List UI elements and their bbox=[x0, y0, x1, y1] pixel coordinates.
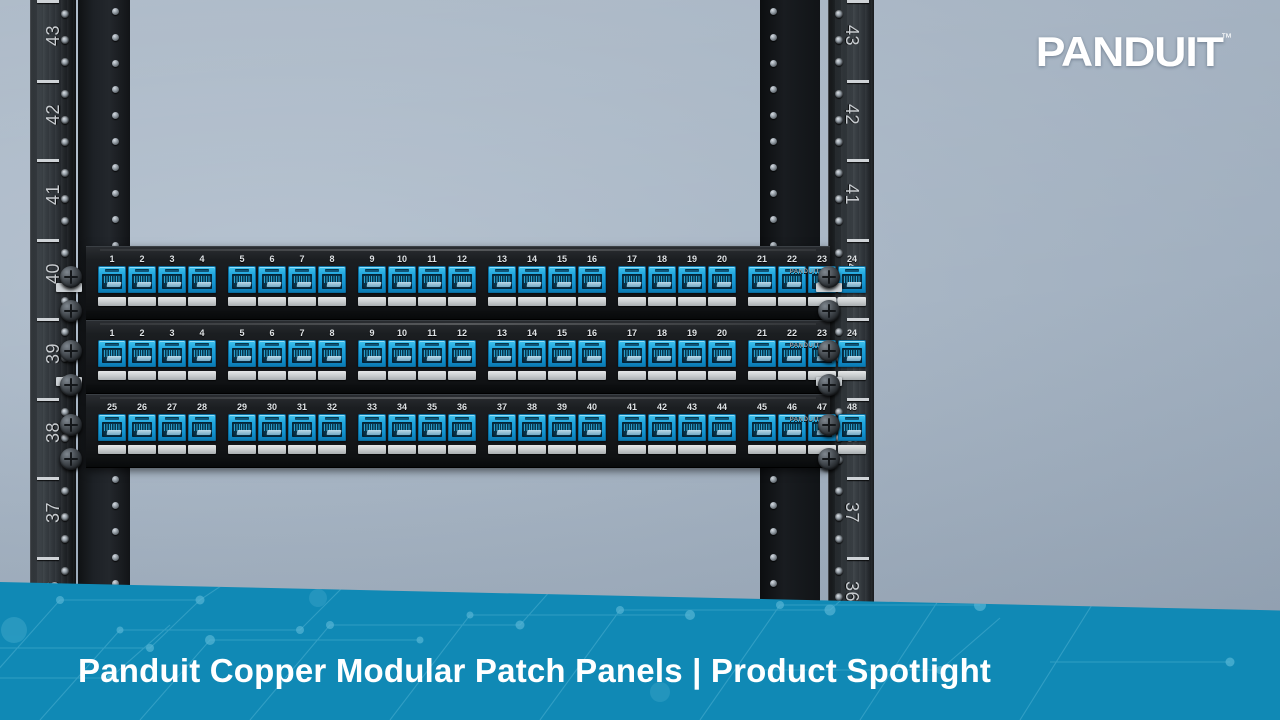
rj45-jack-icon[interactable] bbox=[838, 266, 866, 293]
rj45-jack-icon[interactable] bbox=[418, 266, 446, 293]
patch-port[interactable]: 8 bbox=[318, 253, 346, 306]
rj45-jack-icon[interactable] bbox=[388, 266, 416, 293]
port-label-strip[interactable] bbox=[838, 297, 866, 306]
rack-unit-marker: 42 bbox=[31, 94, 76, 136]
rj45-jack-icon[interactable] bbox=[258, 266, 286, 293]
rj45-jack-icon[interactable] bbox=[98, 414, 126, 441]
rail-mounting-hole bbox=[835, 487, 843, 495]
rj45-jack-icon[interactable] bbox=[388, 340, 416, 367]
patch-port[interactable]: 38 bbox=[518, 401, 546, 454]
panel-mounting-screw[interactable] bbox=[818, 448, 840, 470]
equipment-rack: 4342414039383736 4342414039383736 123456… bbox=[0, 0, 1280, 660]
post-mounting-hole bbox=[770, 86, 777, 93]
port-group: 1234 bbox=[98, 327, 216, 380]
port-label-strip[interactable] bbox=[518, 445, 546, 454]
port-number: 5 bbox=[228, 253, 256, 266]
port-label-strip[interactable] bbox=[228, 371, 256, 380]
rj45-jack-icon[interactable] bbox=[258, 414, 286, 441]
port-group: 25262728 bbox=[98, 401, 216, 454]
port-number: 12 bbox=[448, 253, 476, 266]
jack-contact-cavity bbox=[102, 274, 122, 289]
port-number: 16 bbox=[578, 253, 606, 266]
port-label-strip[interactable] bbox=[488, 371, 516, 380]
patch-port[interactable]: 3 bbox=[158, 253, 186, 306]
patch-port[interactable]: 22 bbox=[778, 253, 806, 306]
port-number: 13 bbox=[488, 253, 516, 266]
patch-port[interactable]: 28 bbox=[188, 401, 216, 454]
patch-port[interactable]: 41 bbox=[618, 401, 646, 454]
port-label-strip[interactable] bbox=[778, 371, 806, 380]
patch-port[interactable]: 6 bbox=[258, 327, 286, 380]
rj45-jack-icon[interactable] bbox=[548, 414, 576, 441]
port-label-strip[interactable] bbox=[188, 445, 216, 454]
port-label-strip[interactable] bbox=[838, 371, 866, 380]
port-number: 25 bbox=[98, 401, 126, 414]
port-label-strip[interactable] bbox=[158, 297, 186, 306]
rack-unit-number: 36 bbox=[842, 581, 863, 602]
port-label-strip[interactable] bbox=[708, 445, 736, 454]
port-number: 20 bbox=[708, 253, 736, 266]
patch-panel[interactable]: 123456789101112131415161718192021222324P… bbox=[86, 320, 830, 394]
patch-port[interactable]: 11 bbox=[418, 253, 446, 306]
rj45-jack-icon[interactable] bbox=[708, 340, 736, 367]
rj45-jack-icon[interactable] bbox=[488, 340, 516, 367]
patch-port[interactable]: 46 bbox=[778, 401, 806, 454]
port-label-strip[interactable] bbox=[648, 445, 676, 454]
port-label-strip[interactable] bbox=[548, 297, 576, 306]
patch-port[interactable]: 13 bbox=[488, 253, 516, 306]
port-number: 12 bbox=[448, 327, 476, 340]
rail-mounting-hole bbox=[61, 487, 69, 495]
jack-contact-cavity bbox=[752, 274, 772, 289]
patch-port[interactable]: 44 bbox=[708, 401, 736, 454]
port-number: 1 bbox=[98, 253, 126, 266]
rj45-jack-icon[interactable] bbox=[648, 414, 676, 441]
post-mounting-hole bbox=[770, 216, 777, 223]
rj45-jack-icon[interactable] bbox=[258, 340, 286, 367]
port-label-strip[interactable] bbox=[318, 445, 346, 454]
port-label-strip[interactable] bbox=[678, 445, 706, 454]
port-label-strip[interactable] bbox=[488, 297, 516, 306]
rj45-jack-icon[interactable] bbox=[358, 266, 386, 293]
rj45-jack-icon[interactable] bbox=[318, 340, 346, 367]
patch-port[interactable]: 19 bbox=[678, 327, 706, 380]
patch-port[interactable]: 20 bbox=[708, 327, 736, 380]
patch-port[interactable]: 20 bbox=[708, 253, 736, 306]
rail-mounting-hole bbox=[835, 58, 843, 66]
jack-contact-cavity bbox=[292, 422, 312, 437]
patch-port[interactable]: 14 bbox=[518, 253, 546, 306]
post-mounting-hole bbox=[112, 190, 119, 197]
rj45-jack-icon[interactable] bbox=[448, 340, 476, 367]
rj45-jack-icon[interactable] bbox=[518, 266, 546, 293]
port-label-strip[interactable] bbox=[518, 371, 546, 380]
patch-port[interactable]: 29 bbox=[228, 401, 256, 454]
rack-unit-marker: 37 bbox=[829, 491, 874, 533]
rj45-jack-icon[interactable] bbox=[448, 266, 476, 293]
port-group: 1234 bbox=[98, 253, 216, 306]
patch-port[interactable]: 10 bbox=[388, 253, 416, 306]
patch-port[interactable]: 13 bbox=[488, 327, 516, 380]
rj45-jack-icon[interactable] bbox=[188, 414, 216, 441]
rail-mounting-hole bbox=[835, 513, 843, 521]
rj45-jack-icon[interactable] bbox=[518, 340, 546, 367]
jack-contact-cavity bbox=[582, 348, 602, 363]
port-label-strip[interactable] bbox=[188, 371, 216, 380]
rj45-jack-icon[interactable] bbox=[488, 266, 516, 293]
port-label-strip[interactable] bbox=[128, 297, 156, 306]
rj45-jack-icon[interactable] bbox=[488, 414, 516, 441]
port-label-strip[interactable] bbox=[648, 371, 676, 380]
rj45-jack-icon[interactable] bbox=[228, 414, 256, 441]
post-mounting-hole bbox=[112, 112, 119, 119]
rj45-jack-icon[interactable] bbox=[748, 414, 776, 441]
port-label-strip[interactable] bbox=[618, 371, 646, 380]
rack-unit-tick bbox=[37, 398, 59, 401]
port-label-strip[interactable] bbox=[648, 297, 676, 306]
rj45-jack-icon[interactable] bbox=[358, 340, 386, 367]
port-number: 43 bbox=[678, 401, 706, 414]
port-label-strip[interactable] bbox=[748, 371, 776, 380]
port-label-strip[interactable] bbox=[188, 297, 216, 306]
port-number: 1 bbox=[98, 327, 126, 340]
patch-port[interactable]: 24 bbox=[838, 253, 866, 306]
port-label-strip[interactable] bbox=[548, 371, 576, 380]
port-label-strip[interactable] bbox=[258, 445, 286, 454]
port-number: 2 bbox=[128, 253, 156, 266]
patch-port[interactable]: 6 bbox=[258, 253, 286, 306]
rack-unit-number: 37 bbox=[842, 501, 863, 522]
jack-contact-cavity bbox=[552, 422, 572, 437]
patch-port[interactable]: 31 bbox=[288, 401, 316, 454]
jack-contact-cavity bbox=[522, 422, 542, 437]
rj45-jack-icon[interactable] bbox=[228, 340, 256, 367]
port-label-strip[interactable] bbox=[488, 445, 516, 454]
patch-port[interactable]: 12 bbox=[448, 327, 476, 380]
port-label-strip[interactable] bbox=[258, 371, 286, 380]
patch-port[interactable]: 10 bbox=[388, 327, 416, 380]
panel-mounting-screw[interactable] bbox=[60, 340, 82, 362]
rj45-jack-icon[interactable] bbox=[98, 266, 126, 293]
rj45-jack-icon[interactable] bbox=[158, 266, 186, 293]
port-label-strip[interactable] bbox=[778, 445, 806, 454]
rail-mounting-hole bbox=[61, 567, 69, 575]
rj45-jack-icon[interactable] bbox=[318, 414, 346, 441]
port-label-strip[interactable] bbox=[98, 371, 126, 380]
port-label-strip[interactable] bbox=[228, 445, 256, 454]
port-number: 18 bbox=[648, 253, 676, 266]
rj45-jack-icon[interactable] bbox=[188, 340, 216, 367]
port-label-strip[interactable] bbox=[518, 297, 546, 306]
port-label-strip[interactable] bbox=[838, 445, 866, 454]
patch-port[interactable]: 34 bbox=[388, 401, 416, 454]
port-number: 23 bbox=[808, 253, 836, 266]
patch-port[interactable]: 5 bbox=[228, 253, 256, 306]
patch-port[interactable]: 5 bbox=[228, 327, 256, 380]
rj45-jack-icon[interactable] bbox=[288, 266, 316, 293]
rj45-jack-icon[interactable] bbox=[708, 414, 736, 441]
rack-unit-tick bbox=[37, 557, 59, 560]
rj45-jack-icon[interactable] bbox=[708, 266, 736, 293]
patch-port[interactable]: 14 bbox=[518, 327, 546, 380]
rack-unit-marker: 42 bbox=[829, 94, 874, 136]
rj45-jack-icon[interactable] bbox=[288, 414, 316, 441]
port-number: 10 bbox=[388, 327, 416, 340]
panel-mounting-screw[interactable] bbox=[60, 374, 82, 396]
jack-contact-cavity bbox=[682, 274, 702, 289]
patch-port[interactable]: 1 bbox=[98, 253, 126, 306]
patch-port[interactable]: 3 bbox=[158, 327, 186, 380]
port-label-strip[interactable] bbox=[678, 297, 706, 306]
port-label-strip[interactable] bbox=[158, 371, 186, 380]
rj45-jack-icon[interactable] bbox=[128, 340, 156, 367]
patch-port[interactable]: 4 bbox=[188, 253, 216, 306]
jack-contact-cavity bbox=[452, 348, 472, 363]
patch-port[interactable]: 7 bbox=[288, 327, 316, 380]
port-number: 23 bbox=[808, 327, 836, 340]
rj45-jack-icon[interactable] bbox=[618, 340, 646, 367]
patch-port[interactable]: 39 bbox=[548, 401, 576, 454]
patch-port[interactable]: 7 bbox=[288, 253, 316, 306]
patch-port[interactable]: 25 bbox=[98, 401, 126, 454]
patch-port[interactable]: 12 bbox=[448, 253, 476, 306]
patch-port[interactable]: 9 bbox=[358, 327, 386, 380]
patch-port[interactable]: 18 bbox=[648, 327, 676, 380]
port-label-strip[interactable] bbox=[228, 297, 256, 306]
port-label-strip[interactable] bbox=[388, 445, 416, 454]
port-number: 45 bbox=[748, 401, 776, 414]
port-label-strip[interactable] bbox=[318, 371, 346, 380]
patch-port[interactable]: 17 bbox=[618, 253, 646, 306]
patch-port[interactable]: 33 bbox=[358, 401, 386, 454]
panel-edge-highlight bbox=[100, 397, 816, 399]
panel-mounting-screw[interactable] bbox=[818, 374, 840, 396]
rj45-jack-icon[interactable] bbox=[388, 414, 416, 441]
port-label-strip[interactable] bbox=[748, 297, 776, 306]
rj45-jack-icon[interactable] bbox=[678, 414, 706, 441]
jack-contact-cavity bbox=[782, 274, 802, 289]
patch-port[interactable]: 48 bbox=[838, 401, 866, 454]
rail-mounting-hole bbox=[61, 36, 69, 44]
rail-mounting-hole bbox=[61, 328, 69, 336]
patch-port[interactable]: 9 bbox=[358, 253, 386, 306]
panel-mounting-screw[interactable] bbox=[818, 340, 840, 362]
port-label-strip[interactable] bbox=[358, 297, 386, 306]
rack-unit-marker: 41 bbox=[31, 173, 76, 215]
port-label-strip[interactable] bbox=[778, 297, 806, 306]
rj45-jack-icon[interactable] bbox=[128, 266, 156, 293]
patch-port[interactable]: 2 bbox=[128, 327, 156, 380]
jack-contact-cavity bbox=[262, 348, 282, 363]
rack-unit-tick bbox=[847, 159, 869, 162]
rj45-jack-icon[interactable] bbox=[358, 414, 386, 441]
rail-mounting-hole bbox=[835, 567, 843, 575]
port-number: 46 bbox=[778, 401, 806, 414]
rj45-jack-icon[interactable] bbox=[748, 340, 776, 367]
patch-port[interactable]: 19 bbox=[678, 253, 706, 306]
port-label-strip[interactable] bbox=[318, 297, 346, 306]
post-mounting-hole bbox=[112, 554, 119, 561]
jack-contact-cavity bbox=[652, 422, 672, 437]
patch-port[interactable]: 16 bbox=[578, 327, 606, 380]
rj45-jack-icon[interactable] bbox=[678, 266, 706, 293]
port-group: 45464748 bbox=[748, 401, 866, 454]
jack-contact-cavity bbox=[782, 422, 802, 437]
port-number: 38 bbox=[518, 401, 546, 414]
jack-contact-cavity bbox=[712, 348, 732, 363]
patch-port[interactable]: 40 bbox=[578, 401, 606, 454]
port-label-strip[interactable] bbox=[288, 445, 316, 454]
rj45-jack-icon[interactable] bbox=[578, 266, 606, 293]
port-label-strip[interactable] bbox=[358, 371, 386, 380]
patch-port[interactable]: 36 bbox=[448, 401, 476, 454]
port-label-strip[interactable] bbox=[448, 445, 476, 454]
port-label-strip[interactable] bbox=[708, 371, 736, 380]
panel-mounting-screw[interactable] bbox=[60, 448, 82, 470]
panel-mounting-screw[interactable] bbox=[818, 266, 840, 288]
port-group: 41424344 bbox=[618, 401, 736, 454]
patch-port[interactable]: 16 bbox=[578, 253, 606, 306]
panel-mounting-screw[interactable] bbox=[818, 300, 840, 322]
patch-port[interactable]: 18 bbox=[648, 253, 676, 306]
port-group: 9101112 bbox=[358, 253, 476, 306]
patch-port[interactable]: 42 bbox=[648, 401, 676, 454]
patch-port[interactable]: 43 bbox=[678, 401, 706, 454]
panel-mounting-screw[interactable] bbox=[818, 414, 840, 436]
patch-port[interactable]: 30 bbox=[258, 401, 286, 454]
rj45-jack-icon[interactable] bbox=[158, 414, 186, 441]
port-label-strip[interactable] bbox=[708, 297, 736, 306]
rj45-jack-icon[interactable] bbox=[648, 266, 676, 293]
patch-panel[interactable]: 123456789101112131415161718192021222324P… bbox=[86, 246, 830, 320]
port-label-strip[interactable] bbox=[578, 371, 606, 380]
patch-port[interactable]: 17 bbox=[618, 327, 646, 380]
rail-mounting-hole bbox=[61, 249, 69, 257]
panel-mounting-screw[interactable] bbox=[60, 300, 82, 322]
jack-contact-cavity bbox=[392, 348, 412, 363]
port-label-strip[interactable] bbox=[618, 297, 646, 306]
port-label-strip[interactable] bbox=[158, 445, 186, 454]
rj45-jack-icon[interactable] bbox=[98, 340, 126, 367]
rj45-jack-icon[interactable] bbox=[578, 414, 606, 441]
port-label-strip[interactable] bbox=[388, 371, 416, 380]
rj45-jack-icon[interactable] bbox=[748, 266, 776, 293]
rj45-jack-icon[interactable] bbox=[838, 340, 866, 367]
port-label-strip[interactable] bbox=[418, 445, 446, 454]
panel-mounting-screw[interactable] bbox=[60, 414, 82, 436]
jack-contact-cavity bbox=[452, 274, 472, 289]
patch-port[interactable]: 15 bbox=[548, 253, 576, 306]
panel-mounting-screw[interactable] bbox=[60, 266, 82, 288]
port-label-strip[interactable] bbox=[418, 297, 446, 306]
port-number: 21 bbox=[748, 253, 776, 266]
patch-port[interactable]: 15 bbox=[548, 327, 576, 380]
rail-mounting-hole bbox=[835, 10, 843, 18]
port-label-strip[interactable] bbox=[388, 297, 416, 306]
port-label-strip[interactable] bbox=[618, 445, 646, 454]
port-label-strip[interactable] bbox=[288, 371, 316, 380]
port-number: 8 bbox=[318, 327, 346, 340]
rj45-jack-icon[interactable] bbox=[648, 340, 676, 367]
rj45-jack-icon[interactable] bbox=[548, 340, 576, 367]
port-label-strip[interactable] bbox=[448, 297, 476, 306]
rj45-jack-icon[interactable] bbox=[288, 340, 316, 367]
port-label-strip[interactable] bbox=[748, 445, 776, 454]
post-mounting-hole bbox=[770, 580, 777, 587]
port-label-strip[interactable] bbox=[548, 445, 576, 454]
patch-port[interactable]: 11 bbox=[418, 327, 446, 380]
patch-port[interactable]: 1 bbox=[98, 327, 126, 380]
port-label-strip[interactable] bbox=[128, 445, 156, 454]
rj45-jack-icon[interactable] bbox=[228, 266, 256, 293]
port-label-strip[interactable] bbox=[358, 445, 386, 454]
rj45-jack-icon[interactable] bbox=[838, 414, 866, 441]
post-mounting-hole bbox=[112, 138, 119, 145]
rj45-jack-icon[interactable] bbox=[188, 266, 216, 293]
patch-port[interactable]: 4 bbox=[188, 327, 216, 380]
patch-port[interactable]: 32 bbox=[318, 401, 346, 454]
rj45-jack-icon[interactable] bbox=[318, 266, 346, 293]
rack-unit-tick bbox=[847, 318, 869, 321]
port-label-strip[interactable] bbox=[678, 371, 706, 380]
port-label-strip[interactable] bbox=[128, 371, 156, 380]
patch-panel[interactable]: 2526272829303132333435363738394041424344… bbox=[86, 394, 830, 468]
rack-unit-tick bbox=[37, 477, 59, 480]
patch-port[interactable]: 24 bbox=[838, 327, 866, 380]
rj45-jack-icon[interactable] bbox=[618, 266, 646, 293]
rail-mounting-hole bbox=[61, 535, 69, 543]
rj45-jack-icon[interactable] bbox=[418, 414, 446, 441]
rj45-jack-icon[interactable] bbox=[158, 340, 186, 367]
port-number: 11 bbox=[418, 253, 446, 266]
rj45-jack-icon[interactable] bbox=[128, 414, 156, 441]
jack-contact-cavity bbox=[582, 274, 602, 289]
port-number: 15 bbox=[548, 327, 576, 340]
patch-port[interactable]: 21 bbox=[748, 253, 776, 306]
port-label-strip[interactable] bbox=[288, 297, 316, 306]
patch-port[interactable]: 35 bbox=[418, 401, 446, 454]
patch-port[interactable]: 37 bbox=[488, 401, 516, 454]
port-label-strip[interactable] bbox=[98, 297, 126, 306]
rj45-jack-icon[interactable] bbox=[548, 266, 576, 293]
rj45-jack-icon[interactable] bbox=[518, 414, 546, 441]
port-label-strip[interactable] bbox=[578, 445, 606, 454]
post-mounting-hole bbox=[770, 60, 777, 67]
rj45-jack-icon[interactable] bbox=[618, 414, 646, 441]
patch-port[interactable]: 45 bbox=[748, 401, 776, 454]
port-label-strip[interactable] bbox=[448, 371, 476, 380]
port-label-strip[interactable] bbox=[578, 297, 606, 306]
port-number: 33 bbox=[358, 401, 386, 414]
patch-port[interactable]: 27 bbox=[158, 401, 186, 454]
port-number: 47 bbox=[808, 401, 836, 414]
rail-mounting-hole bbox=[61, 217, 69, 225]
rj45-jack-icon[interactable] bbox=[418, 340, 446, 367]
rj45-jack-icon[interactable] bbox=[578, 340, 606, 367]
jack-contact-cavity bbox=[192, 348, 212, 363]
port-label-strip[interactable] bbox=[98, 445, 126, 454]
port-label-strip[interactable] bbox=[418, 371, 446, 380]
patch-port[interactable]: 26 bbox=[128, 401, 156, 454]
patch-port[interactable]: 8 bbox=[318, 327, 346, 380]
rj45-jack-icon[interactable] bbox=[448, 414, 476, 441]
patch-port[interactable]: 2 bbox=[128, 253, 156, 306]
port-label-strip[interactable] bbox=[258, 297, 286, 306]
patch-port[interactable]: 21 bbox=[748, 327, 776, 380]
patch-port[interactable]: 22 bbox=[778, 327, 806, 380]
jack-contact-cavity bbox=[842, 422, 862, 437]
rj45-jack-icon[interactable] bbox=[678, 340, 706, 367]
